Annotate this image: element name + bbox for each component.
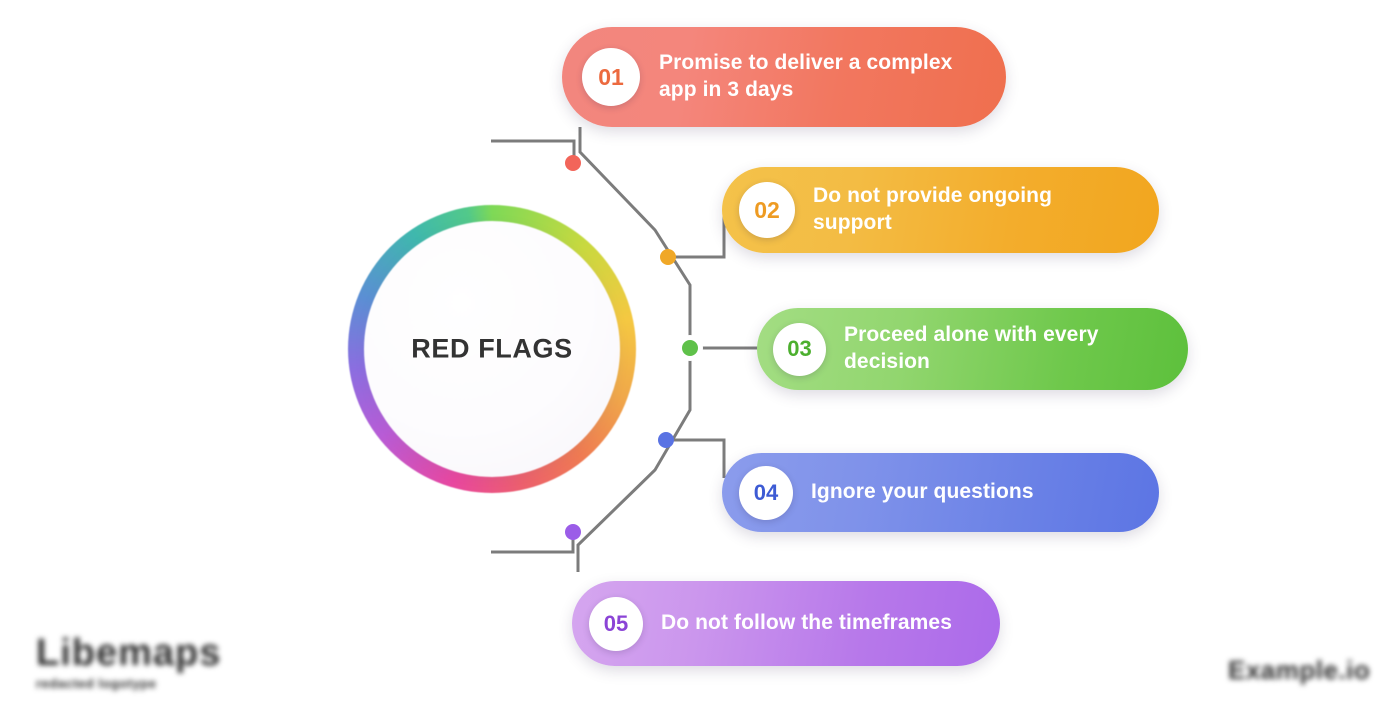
item-card-02[interactable]: 02 Do not provide ongoing support — [722, 167, 1159, 253]
connector-dot-03 — [682, 340, 698, 356]
watermark-logo-left: Libemaps — [36, 632, 221, 675]
infographic-canvas: RED FLAGS 01 Promise to deliver a comple… — [0, 0, 1400, 724]
item-card-01[interactable]: 01 Promise to deliver a complex app in 3… — [562, 27, 1006, 127]
connector-dot-02 — [660, 249, 676, 265]
connector-dot-01 — [565, 155, 581, 171]
item-label-04: Ignore your questions — [811, 479, 1034, 506]
item-number-badge-03: 03 — [773, 323, 826, 376]
endcap-square-top — [478, 134, 491, 147]
item-number-badge-02: 02 — [739, 182, 795, 238]
item-label-01: Promise to deliver a complex app in 3 da… — [659, 50, 979, 104]
central-hub: RED FLAGS — [348, 205, 636, 493]
item-label-02: Do not provide ongoing support — [813, 183, 1133, 237]
watermark-logo-left-tagline: redacted logotype — [36, 676, 156, 691]
connector-dot-04 — [658, 432, 674, 448]
connector-branch-04 — [666, 440, 724, 478]
connector-branch-05 — [483, 533, 573, 552]
item-number-badge-05: 05 — [589, 597, 643, 651]
endcap-square-bottom — [478, 545, 491, 558]
item-card-03[interactable]: 03 Proceed alone with every decision — [757, 308, 1188, 390]
watermark-logo-right: Example.io — [1228, 655, 1370, 686]
item-card-05[interactable]: 05 Do not follow the timeframes — [572, 581, 1000, 666]
item-number-badge-04: 04 — [739, 466, 793, 520]
item-label-05: Do not follow the timeframes — [661, 610, 952, 637]
item-number-badge-01: 01 — [582, 48, 640, 106]
connector-dot-05 — [565, 524, 581, 540]
connector-branch-02 — [668, 210, 724, 257]
item-label-03: Proceed alone with every decision — [844, 322, 1164, 376]
item-card-04[interactable]: 04 Ignore your questions — [722, 453, 1159, 532]
page-title: RED FLAGS — [411, 334, 572, 365]
connector-branch-01 — [483, 141, 574, 157]
connector-dot-03-halo — [677, 335, 703, 361]
